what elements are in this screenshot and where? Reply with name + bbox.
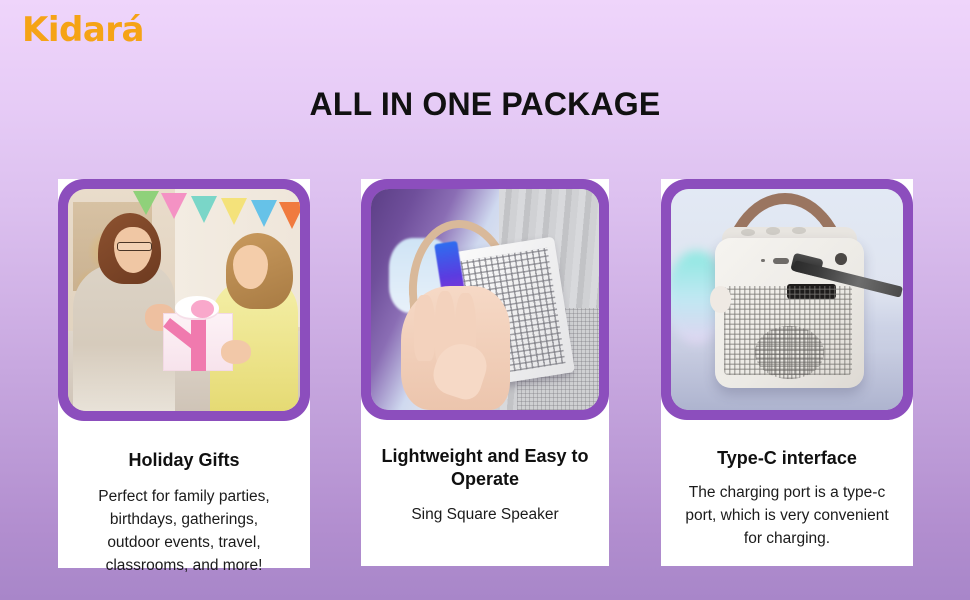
- finger: [414, 295, 435, 361]
- gift-scene-image: [68, 189, 300, 411]
- bunting-flag-icon: [221, 198, 247, 225]
- feature-cards-row: Holiday Gifts Perfect for family parties…: [0, 179, 970, 574]
- card-body: Perfect for family parties, birthdays, g…: [77, 486, 292, 578]
- gift-bow-center: [191, 300, 214, 318]
- bunting-flag-icon: [279, 202, 300, 229]
- photo-frame: [58, 179, 310, 421]
- bunting-flag-icon: [191, 196, 217, 223]
- card-body: The charging port is a type-c port, whic…: [671, 482, 903, 551]
- bunting-flag-icon: [161, 193, 187, 219]
- control-knob: [766, 227, 780, 235]
- feature-card-type-c: Type-C interface The charging port is a …: [661, 179, 913, 566]
- feature-card-holiday-gifts: Holiday Gifts Perfect for family parties…: [58, 179, 310, 568]
- card-body: Sing Square Speaker: [373, 504, 598, 527]
- photo-frame: [361, 179, 609, 420]
- eyeglasses-icon: [117, 242, 152, 251]
- card-title: Type-C interface: [707, 447, 867, 470]
- woman-body: [73, 264, 175, 411]
- bunting-flag-icon: [251, 200, 277, 227]
- card-title: Holiday Gifts: [118, 449, 249, 472]
- hand-holding-speaker-image: [371, 189, 599, 410]
- girl-face: [233, 245, 268, 289]
- photo-frame: [661, 179, 913, 420]
- control-knob: [792, 227, 806, 235]
- type-c-port-icon: [773, 258, 789, 265]
- control-knob: [741, 229, 755, 237]
- page-title: ALL IN ONE PACKAGE: [0, 86, 970, 123]
- bunting-flag-icon: [133, 191, 159, 215]
- feature-card-lightweight: Lightweight and Easy to Operate Sing Squ…: [361, 179, 609, 566]
- handle-anchor: [710, 286, 731, 313]
- brand-logo: Kidará: [22, 10, 144, 50]
- girl-hand: [221, 340, 251, 364]
- card-title: Lightweight and Easy to Operate: [361, 445, 609, 491]
- speaker-driver-circle: [755, 326, 825, 379]
- speaker-charging-image: [671, 189, 903, 410]
